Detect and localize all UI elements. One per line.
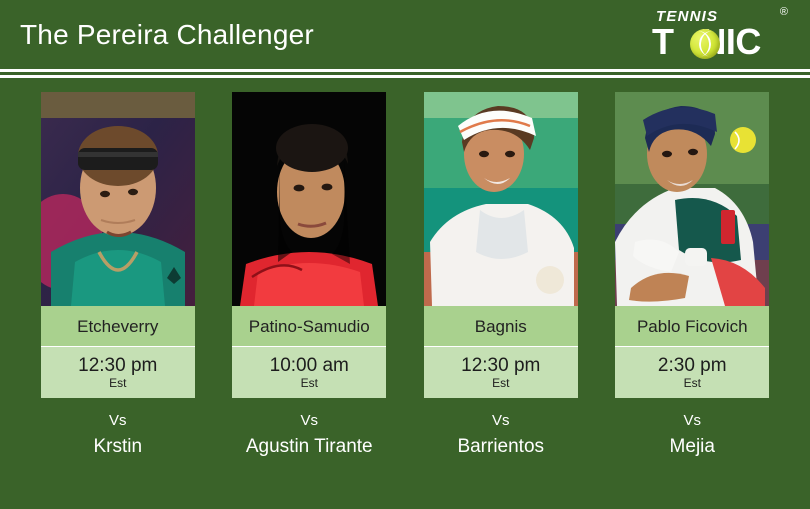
registered-trademark-icon: ® (780, 7, 788, 18)
header-bar: The Pereira Challenger TENNIS ® TONIC (0, 0, 810, 69)
match-time: 2:30 pm (658, 356, 727, 376)
opponent-name: Mejia (670, 437, 715, 456)
divider-line-bottom (0, 75, 810, 78)
opponent-block: Vs Barrientos (405, 413, 597, 456)
logo-tonic-t: T (652, 21, 673, 62)
vs-label: Vs (109, 413, 127, 428)
player-name: Pablo Ficovich (637, 318, 748, 335)
player-card[interactable]: Pablo Ficovich 2:30 pm Est (597, 92, 789, 398)
player-name-box: Patino-Samudio (232, 306, 386, 346)
tournament-schedule-graphic: The Pereira Challenger TENNIS ® TONIC (0, 0, 810, 509)
match-timezone: Est (109, 377, 126, 389)
opponent-block: Vs Agustin Tirante (214, 413, 406, 456)
opponent-block: Vs Mejia (597, 413, 789, 456)
player-name-box: Etcheverry (41, 306, 195, 346)
match-time-box: 2:30 pm Est (615, 346, 769, 398)
player-name: Patino-Samudio (249, 318, 370, 335)
player-photo (615, 92, 769, 306)
opponent-row: Vs Krstin Vs Agustin Tirante Vs Barrient… (0, 398, 810, 456)
opponent-name: Krstin (93, 437, 142, 456)
tennis-ball-icon (690, 29, 720, 59)
vs-label: Vs (300, 413, 318, 428)
page-title: The Pereira Challenger (20, 21, 314, 49)
vs-label: Vs (492, 413, 510, 428)
match-time-box: 10:00 am Est (232, 346, 386, 398)
player-card-row: Etcheverry 12:30 pm Est (0, 80, 810, 398)
player-name: Bagnis (475, 318, 527, 335)
player-card[interactable]: Etcheverry 12:30 pm Est (22, 92, 214, 398)
match-timezone: Est (301, 377, 318, 389)
opponent-block: Vs Krstin (22, 413, 214, 456)
player-name-box: Bagnis (424, 306, 578, 346)
player-photo (424, 92, 578, 306)
vs-label: Vs (683, 413, 701, 428)
opponent-name: Agustin Tirante (246, 437, 373, 456)
player-card[interactable]: Bagnis 12:30 pm Est (405, 92, 597, 398)
match-time: 12:30 pm (461, 356, 540, 376)
match-timezone: Est (684, 377, 701, 389)
match-time-box: 12:30 pm Est (41, 346, 195, 398)
player-photo (41, 92, 195, 306)
header-divider (0, 69, 810, 80)
player-photo (232, 92, 386, 306)
player-name: Etcheverry (77, 318, 158, 335)
divider-line-top (0, 69, 810, 72)
match-timezone: Est (492, 377, 509, 389)
player-name-box: Pablo Ficovich (615, 306, 769, 346)
opponent-name: Barrientos (457, 437, 544, 456)
tennis-tonic-logo: TENNIS ® TONIC (646, 7, 796, 63)
match-time: 12:30 pm (78, 356, 157, 376)
match-time: 10:00 am (270, 356, 349, 376)
player-card[interactable]: Patino-Samudio 10:00 am Est (214, 92, 406, 398)
match-time-box: 12:30 pm Est (424, 346, 578, 398)
